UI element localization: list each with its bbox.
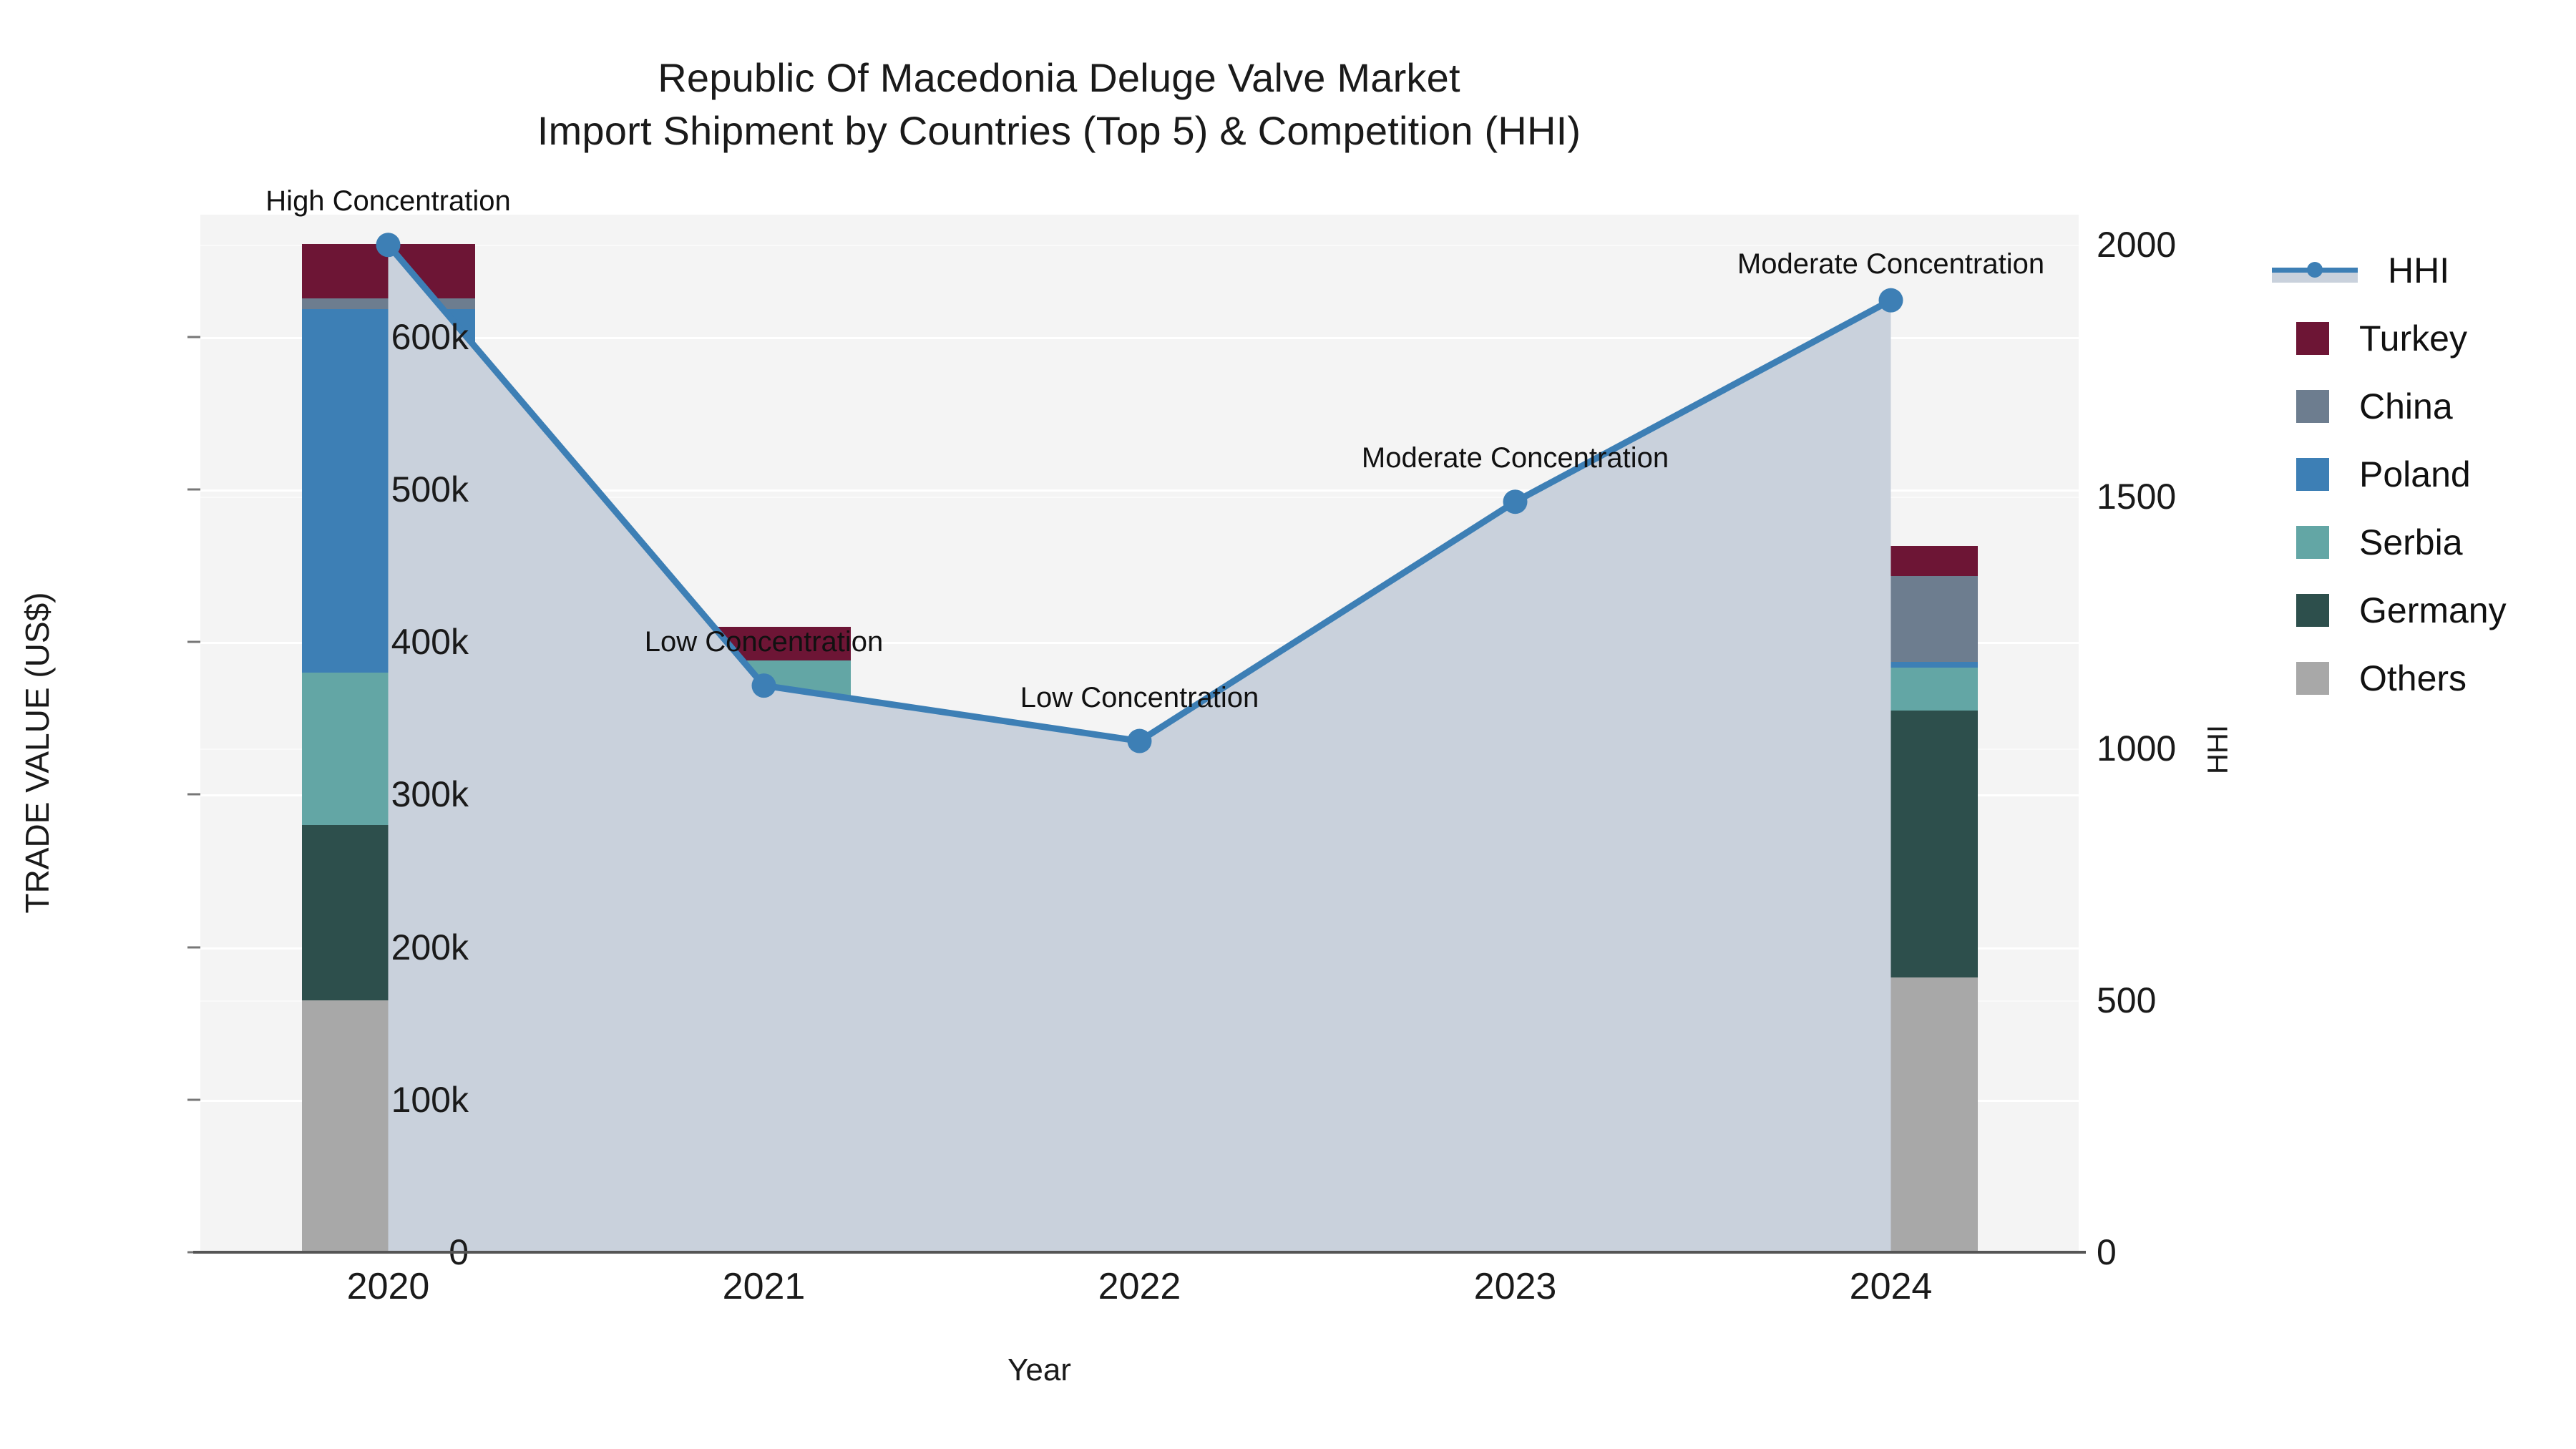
y-tick-label: 400k bbox=[168, 621, 469, 663]
x-tick-label-2021: 2021 bbox=[607, 1265, 922, 1308]
bar-segment-turkey-2022[interactable] bbox=[1053, 825, 1226, 859]
chart-subtitle: Import Shipment by Countries (Top 5) & C… bbox=[0, 104, 2118, 157]
bar-segment-poland-2024[interactable] bbox=[1805, 662, 1978, 668]
bar-segment-germany-2021[interactable] bbox=[678, 817, 851, 904]
bar-stack-2024[interactable] bbox=[1805, 215, 1978, 1252]
x-tick-label-2024: 2024 bbox=[1734, 1265, 2049, 1308]
annotation-2021: Low Concentration bbox=[645, 626, 884, 658]
bar-stack-2021[interactable] bbox=[678, 215, 851, 1252]
y-tick-mark bbox=[187, 1098, 200, 1101]
x-axis-line bbox=[193, 1251, 2086, 1254]
bar-segment-china-2022[interactable] bbox=[1053, 859, 1226, 923]
bar-segment-germany-2020[interactable] bbox=[302, 825, 475, 1000]
legend-swatch-china bbox=[2296, 390, 2329, 423]
y-tick-label: 500k bbox=[168, 469, 469, 510]
legend-item-turkey[interactable]: Turkey bbox=[2272, 304, 2572, 372]
legend-item-china[interactable]: China bbox=[2272, 372, 2572, 440]
bar-stack-2023[interactable] bbox=[1429, 215, 1602, 1252]
legend-swatch-poland bbox=[2296, 458, 2329, 491]
bar-segment-poland-2023[interactable] bbox=[1429, 791, 1602, 798]
legend-label: Turkey bbox=[2359, 318, 2467, 359]
annotation-2020: High Concentration bbox=[265, 185, 510, 218]
bar-segment-serbia-2024[interactable] bbox=[1805, 668, 1978, 711]
bar-segment-serbia-2022[interactable] bbox=[1053, 922, 1226, 1008]
y-axis-title: TRADE VALUE (US$) bbox=[18, 323, 57, 1182]
bar-segment-others-2022[interactable] bbox=[1053, 1066, 1226, 1252]
x-tick-label-2023: 2023 bbox=[1358, 1265, 1673, 1308]
y-tick-mark bbox=[187, 946, 200, 948]
legend-label: Serbia bbox=[2359, 522, 2463, 563]
annotation-2023: Moderate Concentration bbox=[1362, 442, 1669, 474]
legend-item-hhi[interactable]: HHI bbox=[2272, 236, 2572, 304]
bar-segment-serbia-2021[interactable] bbox=[678, 660, 851, 818]
bar-segment-others-2020[interactable] bbox=[302, 1000, 475, 1252]
legend-line-marker bbox=[2272, 254, 2358, 287]
x-axis-title: Year bbox=[0, 1352, 2079, 1388]
chart-title-line-1: Republic Of Macedonia Deluge Valve Marke… bbox=[0, 52, 2118, 104]
legend-label: Germany bbox=[2359, 590, 2507, 631]
legend-label: Others bbox=[2359, 658, 2467, 699]
bar-segment-others-2021[interactable] bbox=[678, 904, 851, 1252]
bar-segment-turkey-2020[interactable] bbox=[302, 244, 475, 299]
legend-label: Poland bbox=[2359, 454, 2471, 495]
bar-segment-others-2023[interactable] bbox=[1429, 1005, 1602, 1252]
bar-segment-serbia-2023[interactable] bbox=[1429, 798, 1602, 871]
bar-segment-others-2024[interactable] bbox=[1805, 977, 1978, 1252]
legend-item-germany[interactable]: Germany bbox=[2272, 576, 2572, 644]
chart-canvas: Republic Of Macedonia Deluge Valve Marke… bbox=[0, 0, 2576, 1449]
secondary-y-tick-label: 1000 bbox=[2097, 728, 2383, 769]
legend-item-serbia[interactable]: Serbia bbox=[2272, 508, 2572, 576]
x-tick-label-2020: 2020 bbox=[231, 1265, 546, 1308]
bar-segment-turkey-2024[interactable] bbox=[1805, 546, 1978, 577]
bar-segment-turkey-2023[interactable] bbox=[1429, 605, 1602, 680]
y-tick-label: 300k bbox=[168, 774, 469, 815]
y-tick-mark bbox=[187, 336, 200, 338]
y-tick-mark bbox=[187, 794, 200, 796]
bar-segment-germany-2022[interactable] bbox=[1053, 1008, 1226, 1066]
chart-legend: HHITurkeyChinaPolandSerbiaGermanyOthers bbox=[2272, 236, 2572, 712]
legend-swatch-germany bbox=[2296, 594, 2329, 627]
legend-label: HHI bbox=[2388, 250, 2449, 291]
legend-item-others[interactable]: Others bbox=[2272, 644, 2572, 712]
bar-segment-china-2024[interactable] bbox=[1805, 576, 1978, 661]
annotation-2024: Moderate Concentration bbox=[1737, 248, 2044, 280]
legend-label: China bbox=[2359, 386, 2453, 427]
plot-area bbox=[200, 215, 2079, 1252]
bar-stack-2022[interactable] bbox=[1053, 215, 1226, 1252]
legend-swatch-serbia bbox=[2296, 526, 2329, 559]
legend-item-poland[interactable]: Poland bbox=[2272, 440, 2572, 508]
annotation-2022: Low Concentration bbox=[1020, 682, 1259, 714]
legend-swatch-others bbox=[2296, 662, 2329, 695]
y-tick-label: 100k bbox=[168, 1079, 469, 1121]
bar-segment-germany-2023[interactable] bbox=[1429, 871, 1602, 1005]
bar-segment-germany-2024[interactable] bbox=[1805, 711, 1978, 977]
y-tick-label: 600k bbox=[168, 316, 469, 358]
x-tick-label-2022: 2022 bbox=[982, 1265, 1297, 1308]
y-tick-mark bbox=[187, 641, 200, 643]
y-tick-label: 200k bbox=[168, 927, 469, 968]
bar-segment-china-2023[interactable] bbox=[1429, 680, 1602, 791]
secondary-y-tick-label: 0 bbox=[2097, 1231, 2383, 1273]
secondary-y-tick-label: 500 bbox=[2097, 980, 2383, 1021]
bar-segment-china-2020[interactable] bbox=[302, 298, 475, 309]
legend-swatch-turkey bbox=[2296, 322, 2329, 355]
chart-title: Republic Of Macedonia Deluge Valve Marke… bbox=[0, 52, 2118, 157]
y-tick-mark bbox=[187, 488, 200, 490]
